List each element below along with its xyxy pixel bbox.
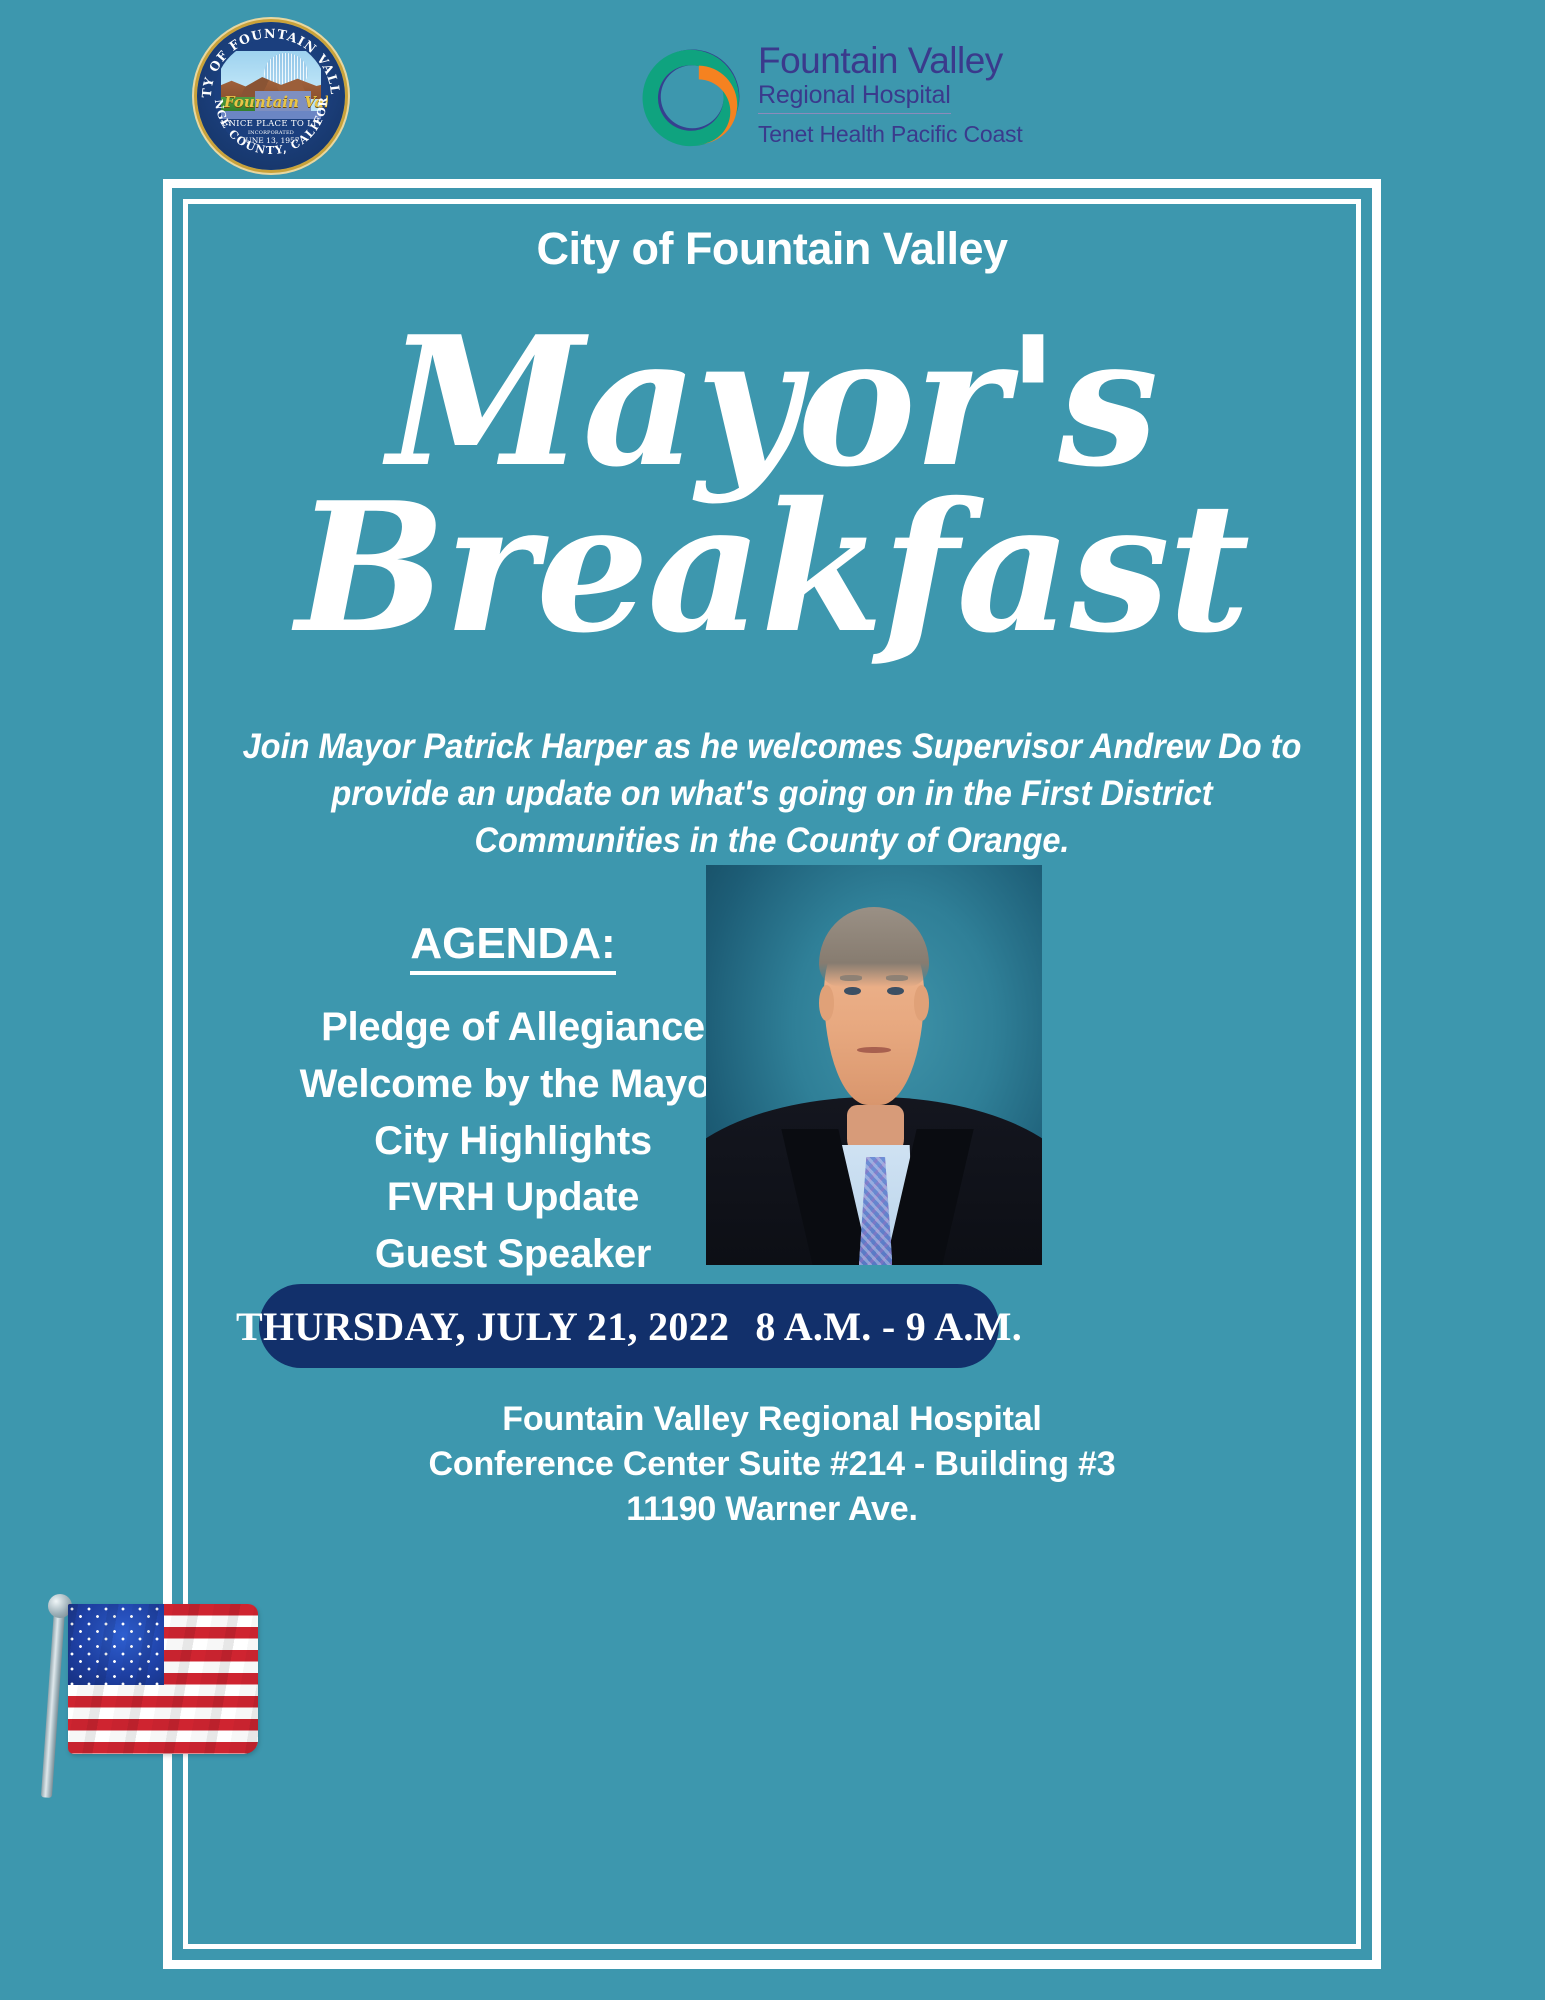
hospital-logo-text: Fountain Valley Regional Hospital Tenet …	[758, 42, 1058, 148]
city-seal-disc: Fountain Valley A NICE PLACE TO LIVE INC…	[197, 22, 345, 170]
page-title: Mayor's Breakfast	[163, 319, 1381, 650]
city-seal-ring-top: CITY OF FOUNTAIN VALLEY	[197, 22, 343, 98]
event-date: THURSDAY, JULY 21, 2022	[236, 1304, 729, 1349]
hospital-logo: Fountain Valley Regional Hospital Tenet …	[630, 38, 1025, 158]
flag-cloth	[68, 1604, 258, 1754]
flag-pole	[41, 1610, 65, 1798]
venue-address: Fountain Valley Regional Hospital Confer…	[163, 1397, 1381, 1533]
portrait-brow-left	[840, 975, 862, 980]
hospital-name-line1: Fountain Valley	[758, 42, 1058, 81]
page-title-line2: Breakfast	[163, 485, 1381, 651]
flag-wave-shading	[68, 1604, 258, 1754]
portrait-ear-left	[819, 985, 834, 1021]
event-description: Join Mayor Patrick Harper as he welcomes…	[241, 724, 1303, 865]
portrait-brow-right	[886, 975, 908, 980]
poster-content: City of Fountain Valley Mayor's Breakfas…	[163, 179, 1381, 1969]
city-seal: Fountain Valley A NICE PLACE TO LIVE INC…	[190, 22, 360, 170]
hospital-name-line2: Regional Hospital	[758, 81, 951, 114]
portrait-ear-right	[914, 985, 929, 1021]
usa-flag-icon	[28, 1582, 268, 1798]
venue-line1: Fountain Valley Regional Hospital	[163, 1397, 1381, 1442]
city-seal-ring-text: CITY OF FOUNTAIN VALLEY ORANGE COUNTY, C…	[197, 22, 345, 170]
event-datetime-banner: THURSDAY, JULY 21, 20228 A.M. - 9 A.M.	[259, 1284, 999, 1368]
tenet-rings-logo-icon	[630, 40, 748, 158]
portrait-hair	[819, 907, 930, 987]
hospital-name-line3: Tenet Health Pacific Coast	[758, 121, 1058, 148]
agenda-heading-text: AGENDA:	[410, 919, 615, 975]
event-time: 8 A.M. - 9 A.M.	[755, 1304, 1022, 1349]
page-title-line1: Mayor's	[163, 319, 1381, 485]
event-datetime-text: THURSDAY, JULY 21, 20228 A.M. - 9 A.M.	[236, 1303, 1022, 1350]
kicker-city-name: City of Fountain Valley	[163, 223, 1381, 275]
venue-line2: Conference Center Suite #214 - Building …	[163, 1442, 1381, 1487]
venue-line3: 11190 Warner Ave.	[163, 1487, 1381, 1532]
header-logos: Fountain Valley A NICE PLACE TO LIVE INC…	[0, 0, 1545, 178]
speaker-portrait	[706, 865, 1042, 1265]
flyer-poster: Fountain Valley A NICE PLACE TO LIVE INC…	[0, 0, 1545, 2000]
